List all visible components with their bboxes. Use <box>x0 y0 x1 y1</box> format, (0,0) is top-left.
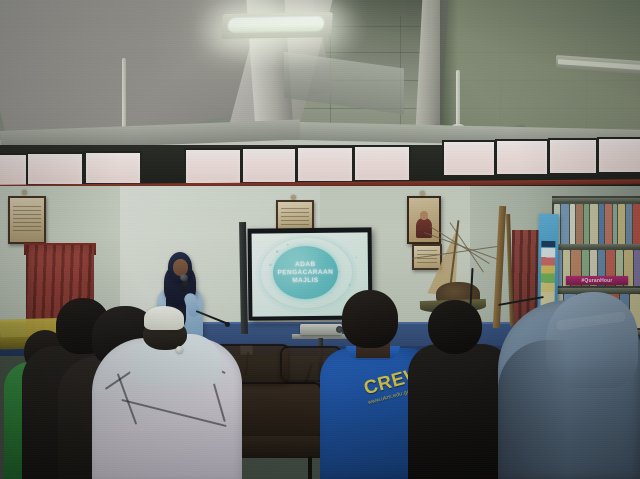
white-prayer-cap <box>144 306 184 330</box>
shelf-banner: #QuranHour <box>566 276 628 285</box>
robe-button <box>176 346 183 353</box>
portrait-head <box>420 211 427 220</box>
certificate-text-lines <box>281 208 308 228</box>
microphone-icon <box>180 274 188 281</box>
hijab-shadow <box>498 340 568 479</box>
audience-body <box>408 344 512 479</box>
rollup-banner-header <box>541 241 555 247</box>
frame-nail-2 <box>291 195 296 200</box>
book-row <box>554 204 640 244</box>
frame-nail-1 <box>22 190 27 195</box>
fluorescent-tube-icon <box>227 16 324 33</box>
framed-certificate-1 <box>8 196 46 244</box>
shelf-banner-label: #QuranHour <box>581 278 612 284</box>
pointer-stick-tip <box>225 322 230 327</box>
certificate-text-lines <box>13 206 40 234</box>
crew-head <box>342 290 398 348</box>
frame-nail-3 <box>420 191 425 196</box>
photo-scene: #QuranHour ADAB PENGACARAAN MAJLIS <box>0 0 640 479</box>
audience-head <box>428 300 482 354</box>
chair-frame <box>308 456 312 479</box>
